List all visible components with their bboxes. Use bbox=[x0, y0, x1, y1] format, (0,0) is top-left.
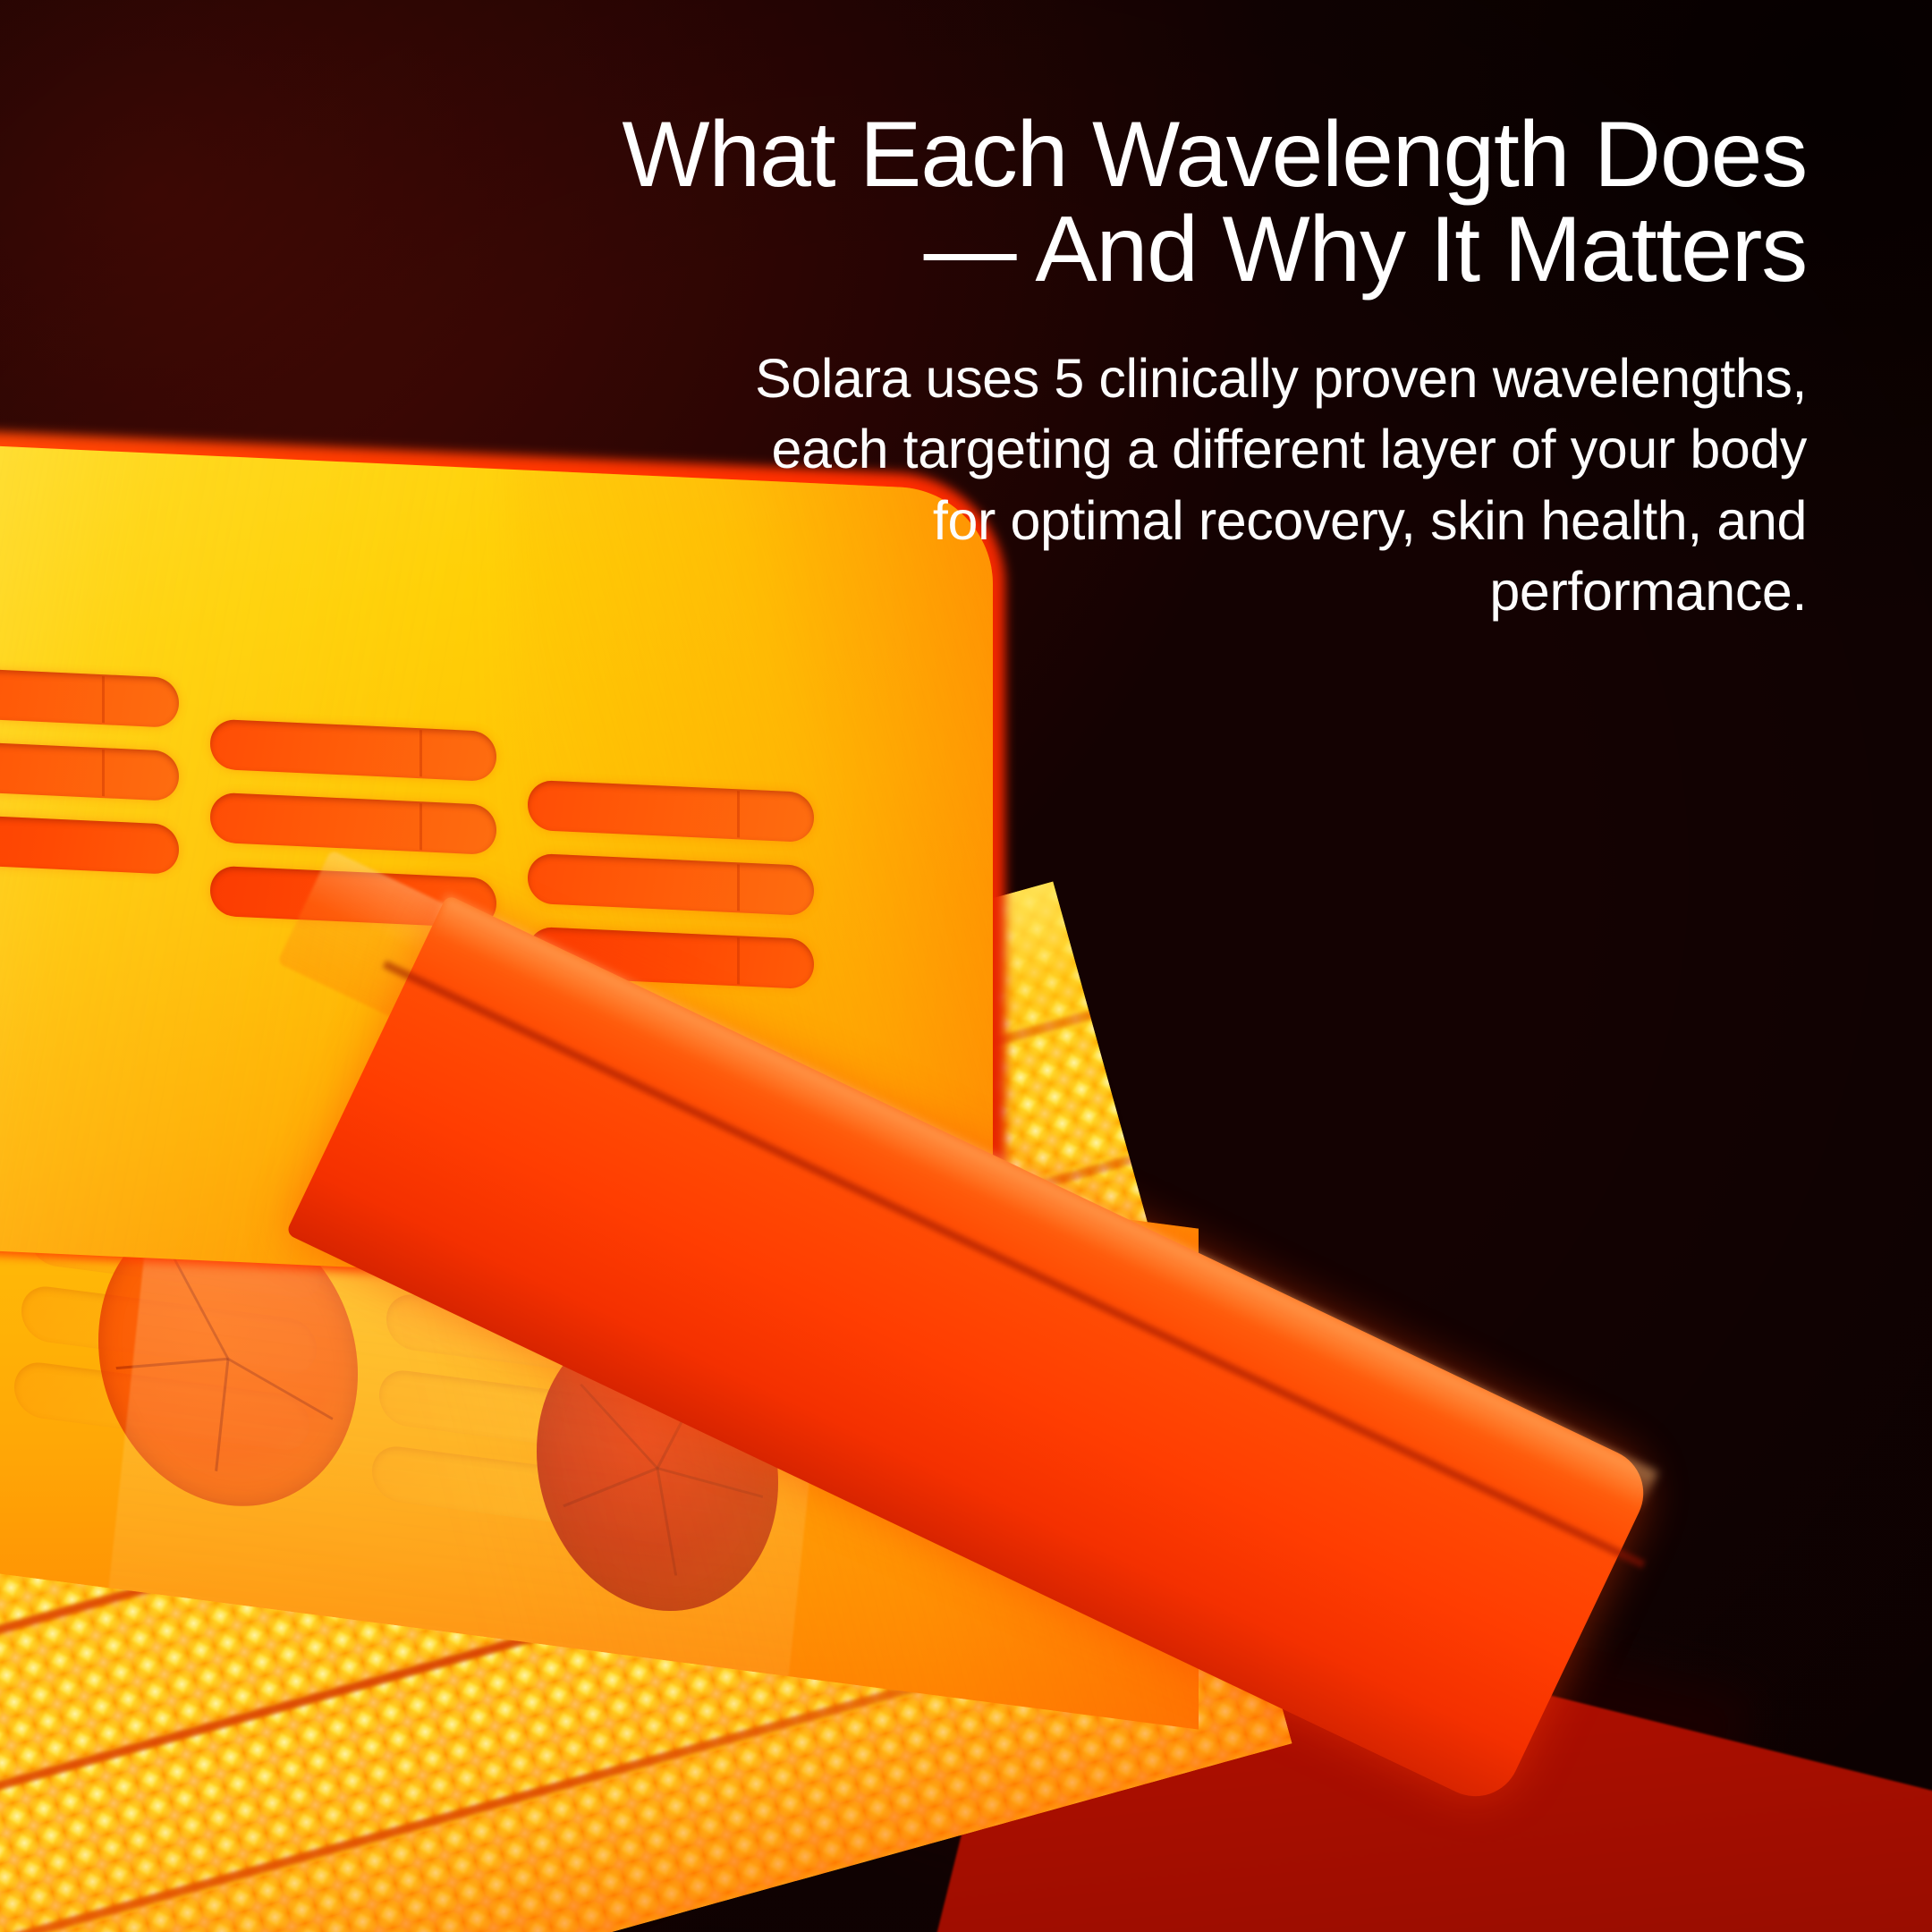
marketing-copy-block: What Each Wavelength Does — And Why It M… bbox=[358, 107, 1807, 627]
vent-slot bbox=[210, 792, 496, 856]
vent-slot bbox=[528, 853, 814, 917]
product-photo-red-light-panel bbox=[0, 626, 1932, 1932]
vent-seam bbox=[419, 730, 422, 776]
page-subtitle: Solara uses 5 clinically proven waveleng… bbox=[358, 343, 1807, 627]
vent-seam bbox=[737, 864, 740, 911]
vent-seam bbox=[102, 750, 105, 796]
vent-slot bbox=[0, 738, 179, 801]
promo-image-canvas: What Each Wavelength Does — And Why It M… bbox=[0, 0, 1932, 1932]
vent-column bbox=[0, 665, 179, 898]
page-title: What Each Wavelength Does — And Why It M… bbox=[358, 107, 1807, 297]
vent-seam bbox=[102, 676, 105, 723]
vent-seam bbox=[419, 803, 422, 850]
vent-slot bbox=[0, 811, 179, 875]
vent-slot bbox=[528, 780, 814, 843]
vent-slot bbox=[210, 719, 496, 783]
vent-seam bbox=[737, 937, 740, 984]
vent-seam bbox=[737, 791, 740, 837]
